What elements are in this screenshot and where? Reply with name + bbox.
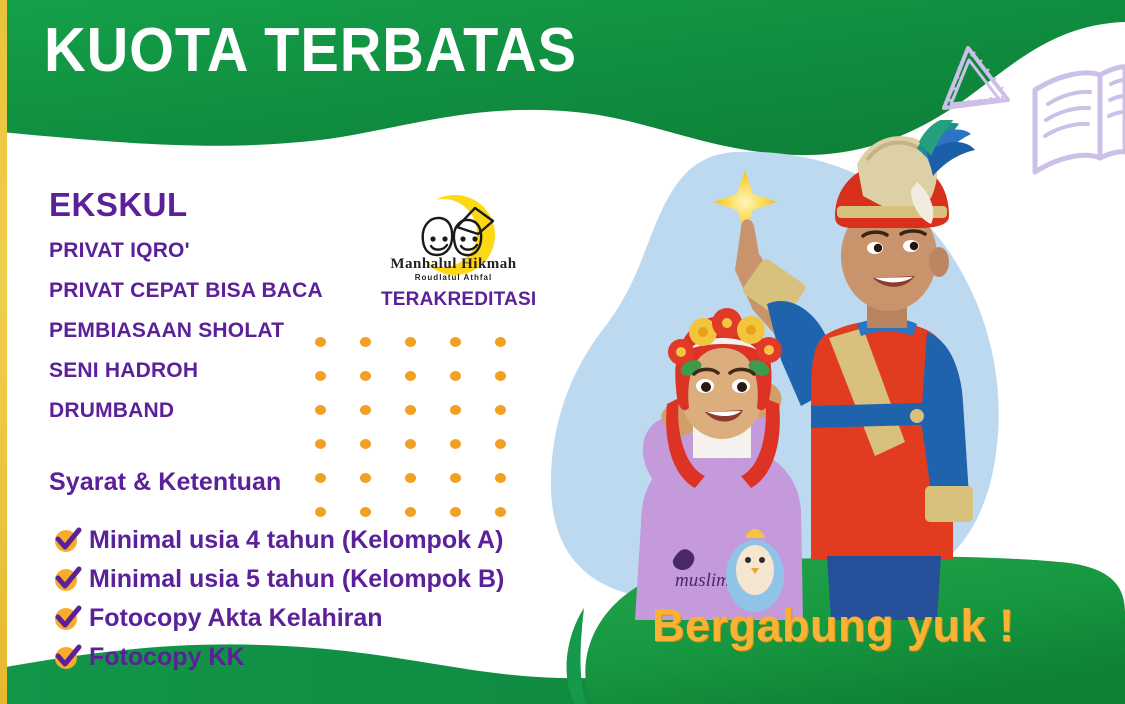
grid-dot <box>360 337 371 347</box>
grid-dot <box>405 337 416 347</box>
grid-dot <box>405 473 416 483</box>
cta-panel-sliver <box>566 608 586 704</box>
grid-dot <box>495 507 506 517</box>
grid-dot <box>360 507 371 517</box>
list-item: Minimal usia 5 tahun (Kelompok B) <box>52 560 504 599</box>
grid-dot <box>450 405 461 415</box>
check-icon <box>52 642 83 673</box>
grid-dot <box>450 473 461 483</box>
grid-dot <box>405 439 416 449</box>
list-item-label: Fotocopy Akta Kelahiran <box>89 604 383 632</box>
check-icon <box>52 603 83 634</box>
grid-dot <box>360 473 371 483</box>
children-photo: muslim <box>545 120 1125 620</box>
grid-dot <box>495 439 506 449</box>
page-title: KUOTA TERBATAS <box>44 20 577 82</box>
list-item: Minimal usia 4 tahun (Kelompok A) <box>52 521 504 560</box>
syarat-list: Minimal usia 4 tahun (Kelompok A) Minima… <box>52 521 504 677</box>
grid-dot <box>495 337 506 347</box>
grid-dot <box>450 439 461 449</box>
grid-dot <box>315 473 326 483</box>
logo-wordmark: Manhalul Hikmah <box>381 256 526 273</box>
grid-dot <box>405 405 416 415</box>
grid-dot <box>450 337 461 347</box>
grid-dot <box>315 337 326 347</box>
check-icon <box>52 564 83 595</box>
list-item-label: Minimal usia 5 tahun (Kelompok B) <box>89 565 504 593</box>
list-item-label: Fotocopy KK <box>89 643 245 671</box>
list-item: DRUMBAND <box>49 400 323 440</box>
school-logo: Manhalul Hikmah Roudlatul Athfal TERAKRE… <box>381 193 526 318</box>
triangle-ruler-icon <box>944 48 1008 108</box>
orange-dot-grid <box>315 337 540 541</box>
ekskul-list: PRIVAT IQRO' PRIVAT CEPAT BISA BACA PEMB… <box>49 240 323 440</box>
grid-dot <box>315 507 326 517</box>
list-item-label: Minimal usia 4 tahun (Kelompok A) <box>89 526 503 554</box>
syarat-heading: Syarat & Ketentuan <box>49 468 281 497</box>
girl-figure: muslim <box>635 308 803 620</box>
grid-dot <box>360 405 371 415</box>
left-gold-strip <box>0 0 7 704</box>
logo-subword: Roudlatul Athfal <box>381 273 526 282</box>
list-item: Fotocopy Akta Kelahiran <box>52 599 504 638</box>
list-item: SENI HADROH <box>49 360 323 400</box>
check-icon <box>52 525 83 556</box>
grid-dot <box>450 371 461 381</box>
grid-dot <box>360 439 371 449</box>
grid-dot <box>405 371 416 381</box>
cta-label: Bergabung yuk ! <box>652 600 1015 652</box>
grid-dot <box>495 371 506 381</box>
svg-text:muslim: muslim <box>675 570 730 591</box>
grid-dot <box>405 507 416 517</box>
list-item: PEMBIASAAN SHOLAT <box>49 320 323 360</box>
list-item: PRIVAT CEPAT BISA BACA <box>49 280 323 320</box>
flyer-canvas: KUOTA TERBATAS EKSKUL PRIVAT IQRO' PRIVA… <box>0 0 1125 704</box>
grid-dot <box>495 473 506 483</box>
grid-dot <box>360 371 371 381</box>
grid-dot <box>495 405 506 415</box>
list-item: Fotocopy KK <box>52 638 504 677</box>
grid-dot <box>315 405 326 415</box>
grid-dot <box>315 371 326 381</box>
grid-dot <box>450 507 461 517</box>
accreditation-label: TERAKREDITASI <box>381 289 526 311</box>
list-item: PRIVAT IQRO' <box>49 240 323 280</box>
grid-dot <box>315 439 326 449</box>
ekskul-heading: EKSKUL <box>49 186 188 224</box>
